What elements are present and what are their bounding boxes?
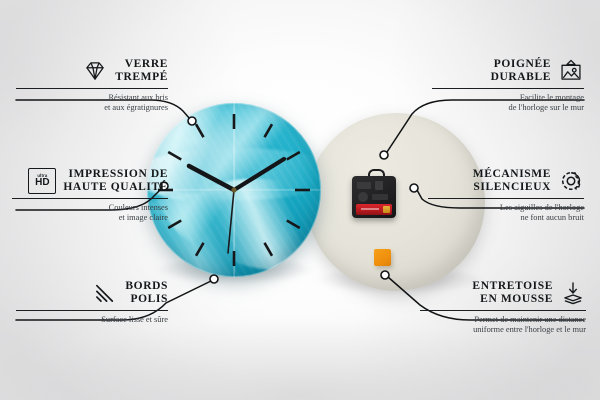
feature-entretoise-en-mousse: ENTRETOISE EN MOUSSE Permet de maintenir…: [420, 280, 586, 336]
feature-title-line2: HAUTE QUALITÉ: [63, 181, 168, 194]
feature-divider: [12, 198, 168, 199]
feature-desc-line1: Facilite le montage: [432, 93, 584, 103]
feature-title-line1: ENTRETOISE: [472, 280, 553, 293]
feature-title-line1: IMPRESSION DE: [63, 168, 168, 181]
feature-title-line1: VERRE: [115, 58, 168, 71]
hour-hand: [189, 166, 234, 190]
feature-title-line2: TREMPÉ: [115, 71, 168, 84]
feature-desc-line1: Couleurs intenses: [12, 203, 168, 213]
feature-desc-line1: Permet de maintenir une distance: [420, 315, 586, 325]
feature-desc-line1: Résistant aux bris: [16, 93, 168, 103]
second-hand: [228, 190, 234, 253]
foam-spacer: [374, 249, 391, 266]
foam-spacer-icon: [560, 280, 586, 306]
feature-divider: [432, 88, 584, 89]
feature-title-line2: EN MOUSSE: [472, 293, 553, 306]
feature-mecanisme-silencieux: MÉCANISME SILENCIEUX Les aiguilles de l'…: [428, 168, 584, 224]
feature-divider: [428, 198, 584, 199]
feature-poignee-durable: POIGNÉE DURABLE Facilite le montage de l…: [432, 58, 584, 114]
feature-desc-line2: et image claire: [12, 213, 168, 223]
ultra-hd-badge-icon: ultra HD: [28, 168, 56, 194]
feature-desc-line2: ne font aucun bruit: [428, 213, 584, 223]
hd-badge-big-label: HD: [35, 178, 49, 188]
feature-divider: [420, 310, 586, 311]
battery: [356, 204, 392, 215]
feature-title-line2: POLIS: [125, 293, 168, 306]
feature-title-line2: SILENCIEUX: [473, 181, 551, 194]
feature-verre-trempe: VERRE TREMPÉ Résistant aux bris et aux é…: [16, 58, 168, 114]
gear-icon: [558, 168, 584, 194]
minute-hand: [234, 159, 284, 190]
hands-hub: [231, 187, 236, 192]
feature-impression-haute-qualite: ultra HD IMPRESSION DE HAUTE QUALITÉ Cou…: [12, 168, 168, 224]
feature-divider: [16, 88, 168, 89]
feature-title-line1: MÉCANISME: [473, 168, 551, 181]
diamond-icon: [82, 58, 108, 84]
feature-bords-polis: BORDS POLIS Surface lisse et sûre: [16, 280, 168, 325]
clock-face-group: [147, 103, 321, 277]
feature-desc-line2: de l'horloge sur le mur: [432, 103, 584, 113]
feature-desc-line2: uniforme entre l'horloge et le mur: [420, 325, 586, 335]
feature-desc-line1: Les aiguilles de l'horloge: [428, 203, 584, 213]
diagonal-lines-icon: [92, 280, 118, 306]
infographic-canvas: VERRE TREMPÉ Résistant aux bris et aux é…: [0, 0, 600, 400]
feature-title-line1: BORDS: [125, 280, 168, 293]
feature-title-line2: DURABLE: [491, 71, 551, 84]
clock-hands: [147, 103, 321, 277]
feature-divider: [16, 310, 168, 311]
picture-hanger-icon: [558, 58, 584, 84]
feature-desc-line2: et aux égratignures: [16, 103, 168, 113]
clock-movement-box: [352, 176, 396, 218]
feature-title-line1: POIGNÉE: [491, 58, 551, 71]
feature-desc-line1: Surface lisse et sûre: [16, 315, 168, 325]
